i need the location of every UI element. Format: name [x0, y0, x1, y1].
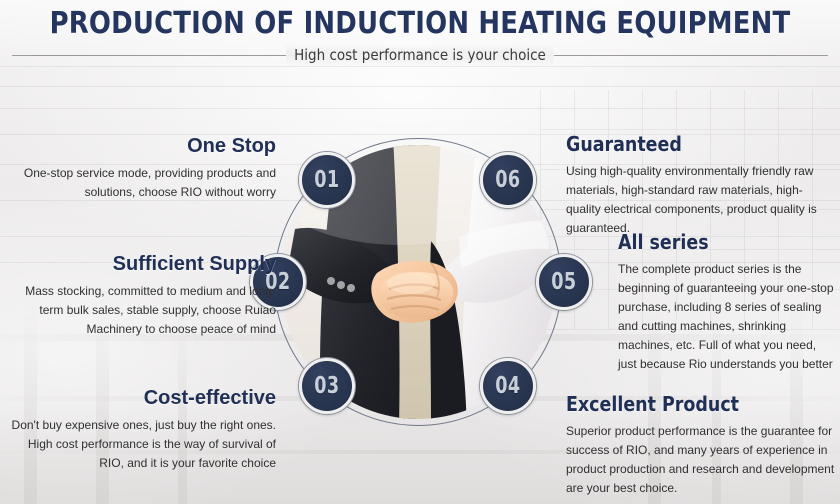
badge-03[interactable]: 03	[299, 358, 355, 414]
center-diagram: 01 02 03 04 05 06	[272, 136, 564, 428]
feature-cost-effective: Cost-effective Don't buy expensive ones,…	[10, 386, 276, 473]
feature-sufficient-supply-body: Mass stocking, committed to medium and l…	[14, 282, 276, 339]
badge-04-label: 04	[495, 373, 520, 399]
feature-all-series-heading: All series	[618, 230, 828, 254]
badge-03-label: 03	[314, 373, 339, 399]
subtitle-row: High cost performance is your choice	[0, 44, 840, 66]
badge-06[interactable]: 06	[480, 152, 536, 208]
badge-06-label: 06	[495, 167, 520, 193]
badge-04[interactable]: 04	[480, 358, 536, 414]
badge-01-label: 01	[314, 167, 339, 193]
header: PRODUCTION OF INDUCTION HEATING EQUIPMEN…	[0, 0, 840, 62]
badge-01[interactable]: 01	[299, 152, 355, 208]
badge-05[interactable]: 05	[536, 254, 592, 310]
divider-left	[12, 55, 300, 56]
feature-all-series-body: The complete product series is the begin…	[618, 260, 834, 374]
feature-excellent-product-heading: Excellent Product	[566, 392, 830, 416]
feature-one-stop-heading: One Stop	[14, 134, 276, 158]
feature-cost-effective-body: Don't buy expensive ones, just buy the r…	[10, 416, 276, 473]
feature-sufficient-supply-heading: Sufficient Supply	[14, 252, 276, 276]
badge-05-label: 05	[551, 269, 576, 295]
feature-excellent-product: Excellent Product Superior product perfo…	[566, 392, 838, 498]
feature-all-series: All series The complete product series i…	[618, 230, 834, 374]
divider-right	[540, 55, 828, 56]
feature-cost-effective-heading: Cost-effective	[10, 386, 276, 410]
feature-excellent-product-body: Superior product performance is the guar…	[566, 422, 838, 498]
page-subtitle: High cost performance is your choice	[286, 44, 554, 66]
feature-sufficient-supply: Sufficient Supply Mass stocking, committ…	[14, 252, 276, 339]
feature-guaranteed-heading: Guaranteed	[566, 132, 826, 156]
feature-guaranteed-body: Using high-quality environmentally frien…	[566, 162, 834, 238]
feature-one-stop: One Stop One-stop service mode, providin…	[14, 134, 276, 202]
feature-one-stop-body: One-stop service mode, providing product…	[14, 164, 276, 202]
feature-guaranteed: Guaranteed Using high-quality environmen…	[566, 132, 834, 238]
page-title: PRODUCTION OF INDUCTION HEATING EQUIPMEN…	[17, 0, 823, 43]
